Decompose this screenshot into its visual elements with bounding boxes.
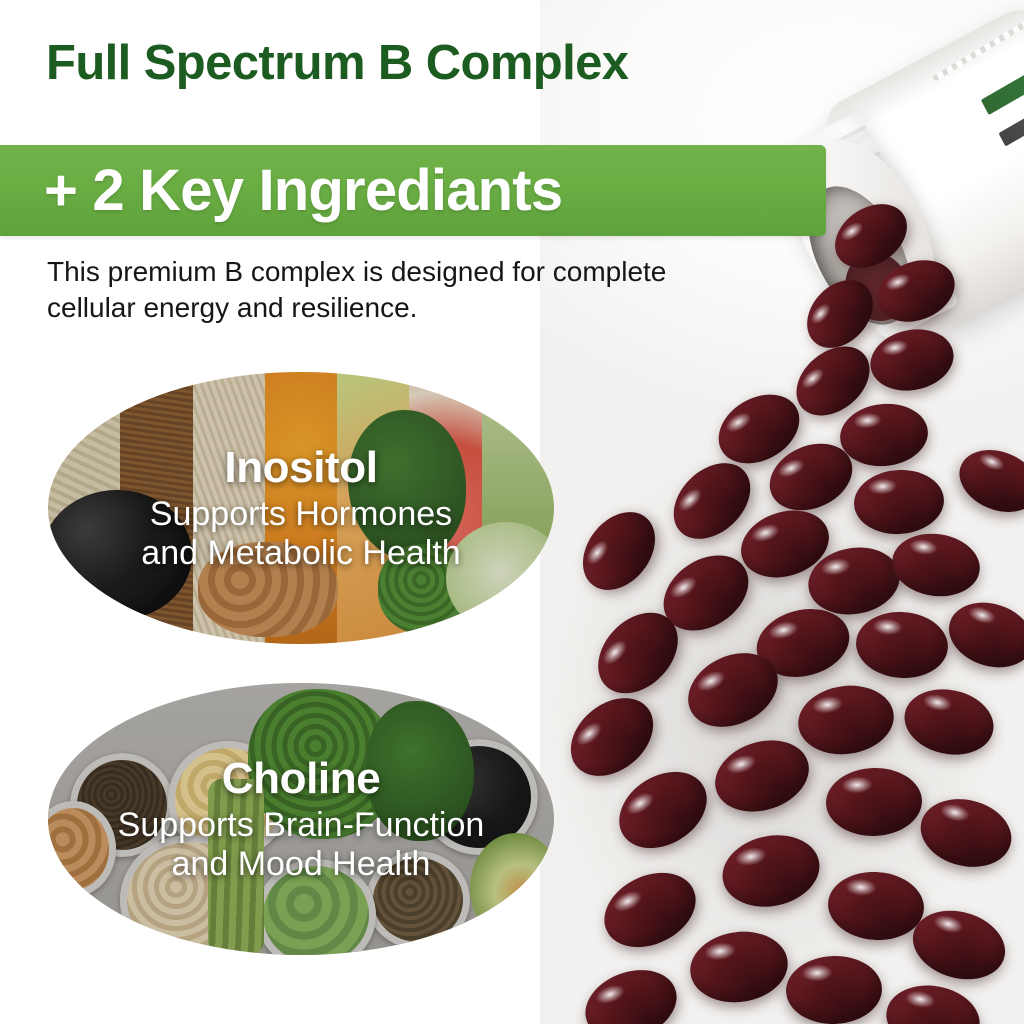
benefit-line-2: and Mood Health	[172, 845, 431, 883]
ingredient-callout-choline: Choline Supports Brain-Function and Mood…	[48, 683, 554, 955]
ingredient-callout-inositol: Inositol Supports Hormones and Metabolic…	[48, 372, 554, 644]
ingredient-name-inositol: Inositol	[224, 443, 377, 493]
benefit-line-2: and Metabolic Health	[141, 534, 460, 572]
bottle-cap-stripe	[932, 0, 1024, 82]
key-ingredients-banner: + 2 Key Ingrediants	[0, 145, 826, 236]
benefit-line-1: Supports Brain-Function	[118, 806, 485, 844]
benefit-line-1: Supports Hormones	[150, 495, 452, 533]
ingredient-benefit-choline: Supports Brain-Function and Mood Health	[104, 806, 499, 885]
banner-label: + 2 Key Ingrediants	[44, 157, 562, 224]
ingredient-name-choline: Choline	[222, 754, 381, 804]
product-infographic: Full Spectrum B Complex + 2 Key Ingredia…	[0, 0, 1024, 1024]
subtitle-text: This premium B complex is designed for c…	[47, 254, 687, 326]
ingredient-benefit-inositol: Supports Hormones and Metabolic Health	[127, 495, 474, 574]
page-title: Full Spectrum B Complex	[46, 38, 806, 89]
